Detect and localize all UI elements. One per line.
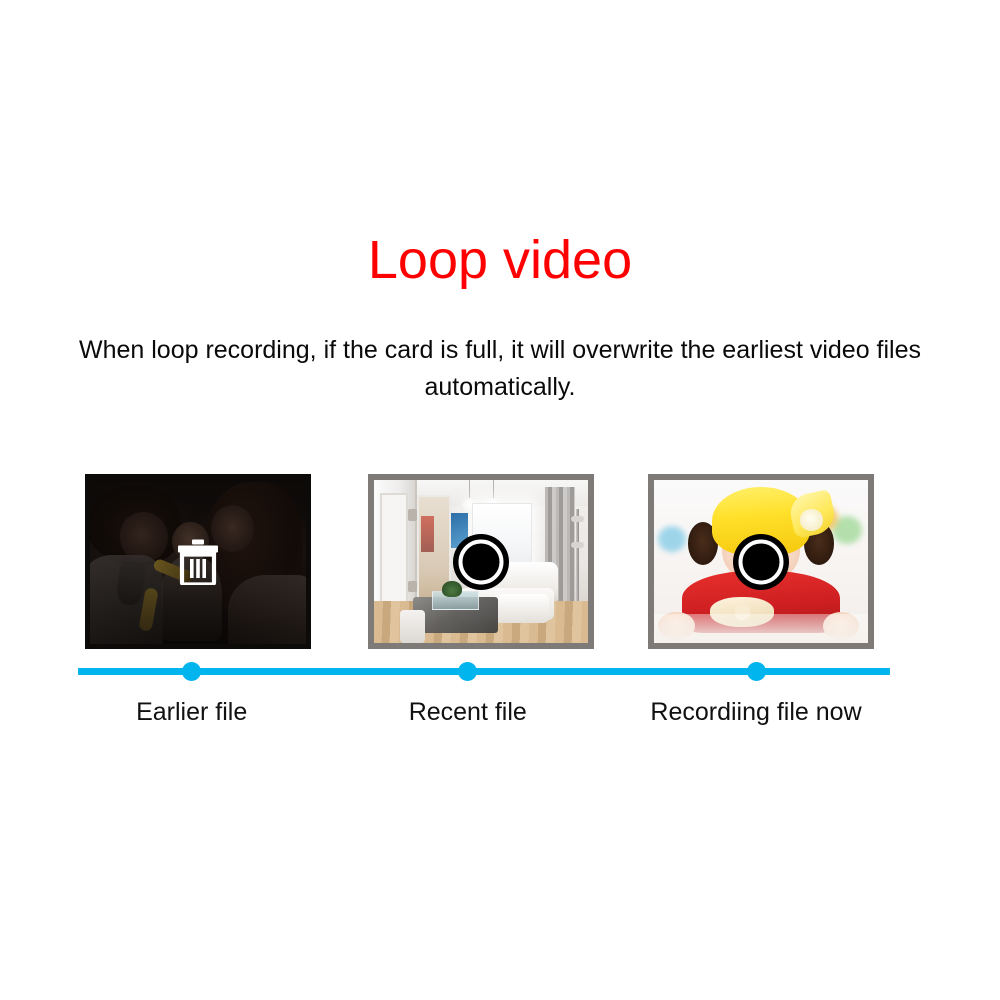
label-recent-file: Recent file	[409, 698, 527, 727]
timeline-labels: Earlier file Recent file Recordiing file…	[0, 698, 1000, 732]
timeline-bar	[78, 668, 890, 675]
label-recording-file-now: Recordiing file now	[650, 698, 861, 727]
page-description: When loop recording, if the card is full…	[60, 332, 940, 406]
thumbnail-recent-file[interactable]	[368, 474, 594, 649]
play-icon[interactable]	[452, 533, 510, 591]
label-earlier-file: Earlier file	[136, 698, 247, 727]
thumbnail-earlier-file[interactable]	[85, 474, 311, 649]
trash-icon	[176, 539, 220, 585]
thumbnail-strip	[0, 474, 1000, 650]
photo-family	[90, 479, 306, 644]
photo-living-room	[374, 480, 588, 643]
page-title: Loop video	[0, 233, 1000, 287]
timeline-dot-earlier-file[interactable]	[182, 662, 201, 681]
play-icon[interactable]	[732, 533, 790, 591]
timeline-dot-recording-file-now[interactable]	[747, 662, 766, 681]
timeline-dot-recent-file[interactable]	[458, 662, 477, 681]
thumbnail-recording-file-now[interactable]	[648, 474, 874, 649]
loop-video-infographic: Loop video When loop recording, if the c…	[0, 0, 1000, 1000]
photo-baby	[654, 480, 868, 643]
